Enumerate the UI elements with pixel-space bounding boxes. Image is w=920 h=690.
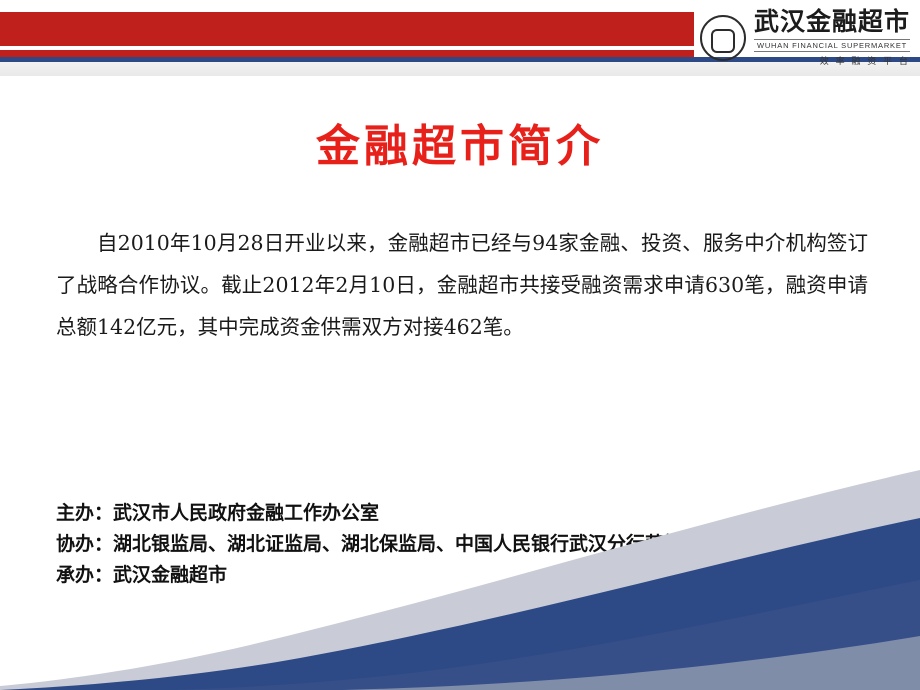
intro-paragraph: 自2010年10月28日开业以来，金融超市已经与94家金融、投资、服务中介机构签…: [56, 222, 868, 348]
logo-tagline: 效 率 融 资 平 台: [754, 54, 910, 67]
logo-english-name: WUHAN FINANCIAL SUPERMARKET: [754, 39, 910, 52]
logo-emblem-icon: [700, 15, 746, 61]
organizer-line-executor: 承办：武汉金融超市: [56, 560, 886, 591]
page-title: 金融超市简介: [0, 110, 920, 174]
organizer-line-coorganizer: 协办：湖北银监局、湖北证监局、湖北保监局、中国人民银行武汉分行营管部: [56, 529, 886, 560]
organizer-list: 主办：武汉市人民政府金融工作办公室 协办：湖北银监局、湖北证监局、湖北保监局、中…: [56, 498, 886, 591]
brand-logo: 武汉金融超市 WUHAN FINANCIAL SUPERMARKET 效 率 融…: [700, 8, 915, 68]
deco-blue-swoosh-light: [0, 580, 920, 690]
logo-text-group: 武汉金融超市 WUHAN FINANCIAL SUPERMARKET 效 率 融…: [754, 9, 910, 66]
deco-grey-swoosh-lower: [0, 636, 920, 690]
red-banner-accent: [0, 50, 694, 57]
organizer-line-host: 主办：武汉市人民政府金融工作办公室: [56, 498, 886, 529]
logo-chinese-name: 武汉金融超市: [754, 9, 910, 35]
red-banner-bar: [0, 12, 694, 46]
presentation-slide: 武汉金融超市 WUHAN FINANCIAL SUPERMARKET 效 率 融…: [0, 0, 920, 690]
header-banner: 武汉金融超市 WUHAN FINANCIAL SUPERMARKET 效 率 融…: [0, 0, 920, 76]
